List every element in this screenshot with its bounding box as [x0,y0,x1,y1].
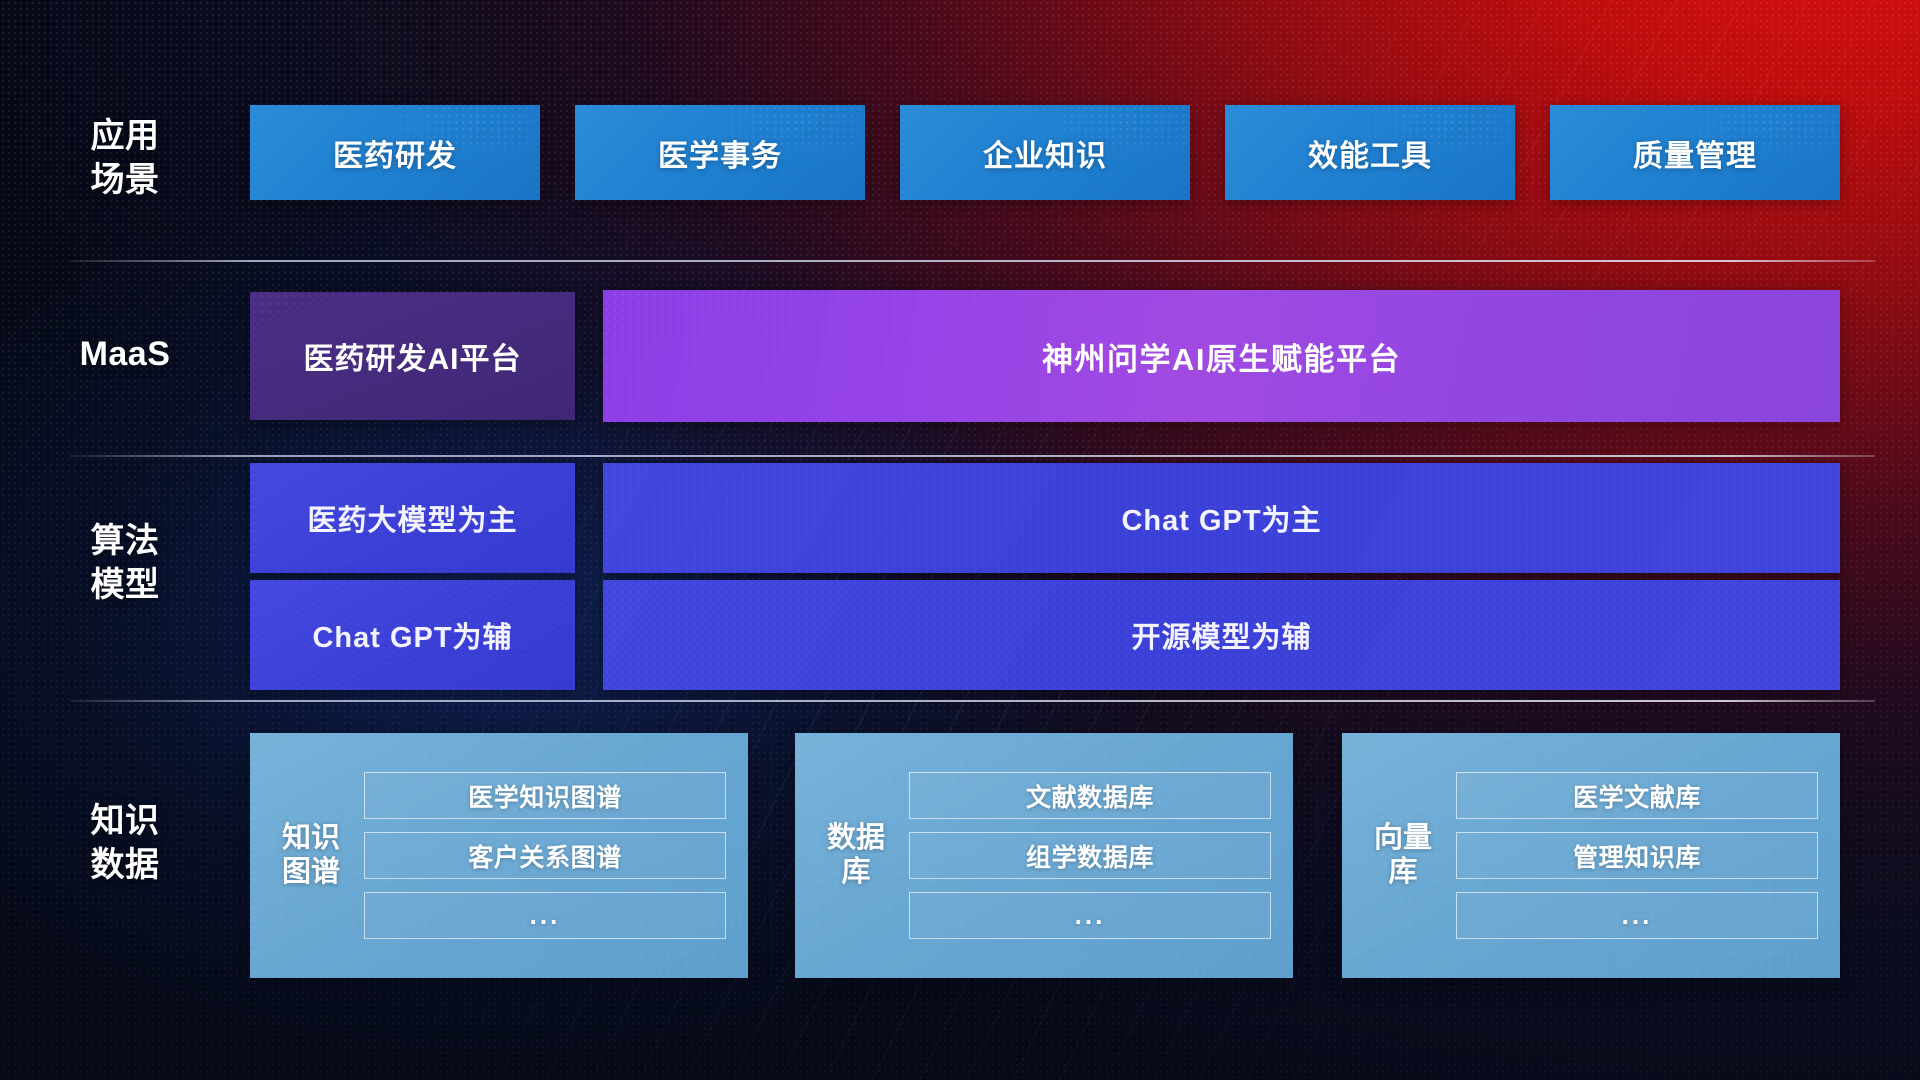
algo-secondary-left[interactable]: Chat GPT为辅 [250,580,575,690]
algo-primary-right[interactable]: Chat GPT为主 [603,463,1840,573]
app-card-0[interactable]: 医药研发 [250,105,540,200]
maas-platform-left[interactable]: 医药研发AI平台 [250,292,575,420]
row-label-maas: MaaS [50,333,200,377]
app-card-label: 医学事务 [658,131,782,175]
row-label-knowledge: 知识 数据 [50,800,200,887]
app-card-label: 效能工具 [1308,131,1432,175]
knowledge-item[interactable]: 客户关系图谱 [364,832,726,879]
knowledge-group-title: 数据 库 [817,822,895,889]
knowledge-group-vector-store[interactable]: 向量 库 医学文献库 管理知识库 ... [1342,733,1840,978]
knowledge-item[interactable]: 管理知识库 [1456,832,1818,879]
knowledge-item-more[interactable]: ... [1456,892,1818,939]
architecture-diagram: 应用 场景 医药研发 医学事务 企业知识 效能工具 质量管理 MaaS 医药研发… [0,0,1920,1080]
knowledge-group-items: 医学文献库 管理知识库 ... [1442,772,1840,939]
algo-secondary-right[interactable]: 开源模型为辅 [603,580,1840,690]
algo-primary-left[interactable]: 医药大模型为主 [250,463,575,573]
app-card-1[interactable]: 医学事务 [575,105,865,200]
divider-application-maas [70,260,1875,262]
app-card-4[interactable]: 质量管理 [1550,105,1840,200]
knowledge-group-title: 向量 库 [1364,822,1442,889]
row-label-application: 应用 场景 [50,115,200,202]
knowledge-group-knowledge-graph[interactable]: 知识 图谱 医学知识图谱 客户关系图谱 ... [250,733,748,978]
knowledge-item[interactable]: 医学文献库 [1456,772,1818,819]
maas-platform-right-label: 神州问学AI原生赋能平台 [1042,334,1401,379]
algo-primary-right-label: Chat GPT为主 [1121,497,1321,539]
row-label-algorithm: 算法 模型 [50,520,200,607]
divider-maas-algorithm [70,455,1875,457]
algo-primary-left-label: 医药大模型为主 [307,497,517,539]
knowledge-item-more[interactable]: ... [909,892,1271,939]
divider-algorithm-knowledge [70,700,1875,702]
app-card-label: 医药研发 [333,131,457,175]
maas-platform-left-label: 医药研发AI平台 [304,334,522,378]
maas-platform-right[interactable]: 神州问学AI原生赋能平台 [603,290,1840,422]
knowledge-group-items: 医学知识图谱 客户关系图谱 ... [350,772,748,939]
knowledge-item[interactable]: 文献数据库 [909,772,1271,819]
algo-secondary-right-label: 开源模型为辅 [1131,614,1311,656]
knowledge-item[interactable]: 医学知识图谱 [364,772,726,819]
knowledge-group-database[interactable]: 数据 库 文献数据库 组学数据库 ... [795,733,1293,978]
app-card-2[interactable]: 企业知识 [900,105,1190,200]
knowledge-group-title: 知识 图谱 [272,822,350,889]
app-card-label: 质量管理 [1633,131,1757,175]
app-card-label: 企业知识 [983,131,1107,175]
app-card-3[interactable]: 效能工具 [1225,105,1515,200]
knowledge-group-items: 文献数据库 组学数据库 ... [895,772,1293,939]
knowledge-item[interactable]: 组学数据库 [909,832,1271,879]
algo-secondary-left-label: Chat GPT为辅 [312,614,512,656]
knowledge-item-more[interactable]: ... [364,892,726,939]
